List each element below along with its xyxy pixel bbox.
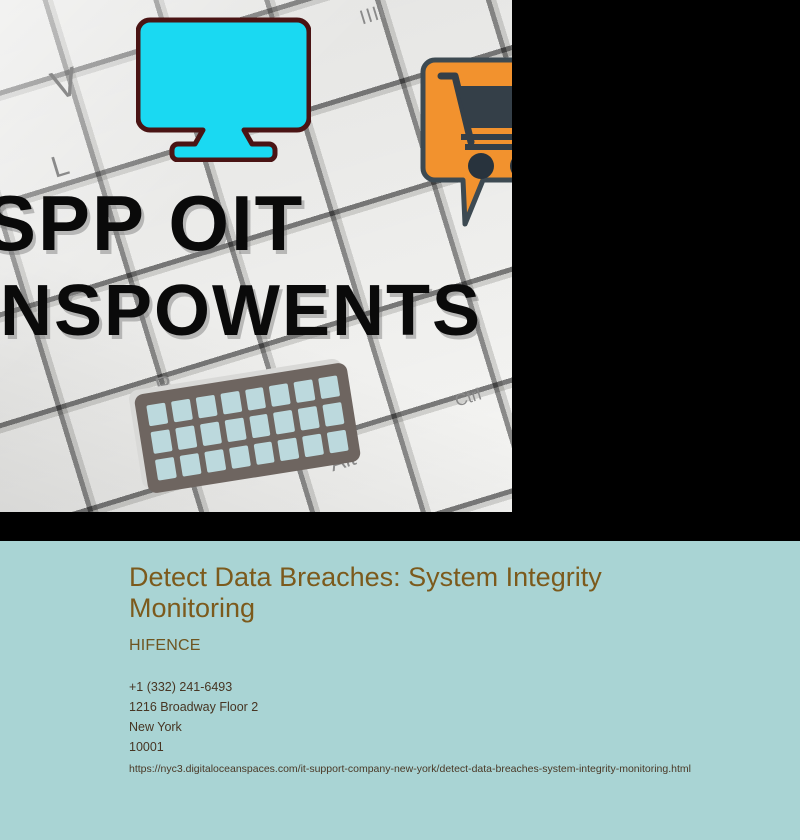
keyboard-key (278, 437, 300, 461)
keyboard-key (327, 429, 349, 453)
keyboard-key (269, 383, 291, 407)
keyboard-key (195, 395, 217, 419)
keyboard-key (204, 449, 226, 473)
keyboard-key (322, 402, 344, 426)
monitor-icon (136, 14, 311, 162)
artwork-headline-line-2: INSPOWENTS (0, 270, 482, 352)
keyboard-key (179, 453, 201, 477)
hero-letterbox-area: V L IIII P Ctrl Alt (0, 0, 800, 541)
contact-block: +1 (332) 241-6493 1216 Broadway Floor 2 … (129, 677, 780, 777)
contact-street: 1216 Broadway Floor 2 (129, 697, 780, 717)
page-root: V L IIII P Ctrl Alt (0, 0, 800, 840)
company-name: HIFENCE (129, 636, 780, 655)
keyboard-key (151, 430, 173, 454)
contact-city: New York (129, 717, 780, 737)
article-hero-image: V L IIII P Ctrl Alt (0, 0, 512, 512)
artwork-headline-line-1: SPP OIT (0, 178, 304, 269)
shopping-cart-chat-bubble-icon (419, 56, 512, 231)
keyboard-key (298, 406, 320, 430)
keyboard-key (294, 379, 316, 403)
keyboard-key (302, 433, 324, 457)
keyboard-key (224, 418, 246, 442)
contact-postal-code: 10001 (129, 737, 780, 757)
keyboard-key (253, 441, 275, 465)
keyboard-key (228, 445, 250, 469)
keyboard-key (249, 414, 271, 438)
contact-phone[interactable]: +1 (332) 241-6493 (129, 677, 780, 697)
keyboard-key (155, 457, 177, 481)
keyboard-key (175, 426, 197, 450)
keyboard-key (318, 375, 340, 399)
info-content: Detect Data Breaches: System Integrity M… (129, 562, 780, 777)
source-url[interactable]: https://nyc3.digitaloceanspaces.com/it-s… (129, 762, 780, 777)
keyboard-key (171, 399, 193, 423)
keyboard-key (273, 410, 295, 434)
page-title: Detect Data Breaches: System Integrity M… (129, 562, 729, 624)
keyboard-key (200, 422, 222, 446)
keyboard-key (220, 391, 242, 415)
keyboard-key (245, 387, 267, 411)
article-info-panel: Detect Data Breaches: System Integrity M… (0, 541, 800, 840)
keyboard-key (146, 403, 168, 427)
